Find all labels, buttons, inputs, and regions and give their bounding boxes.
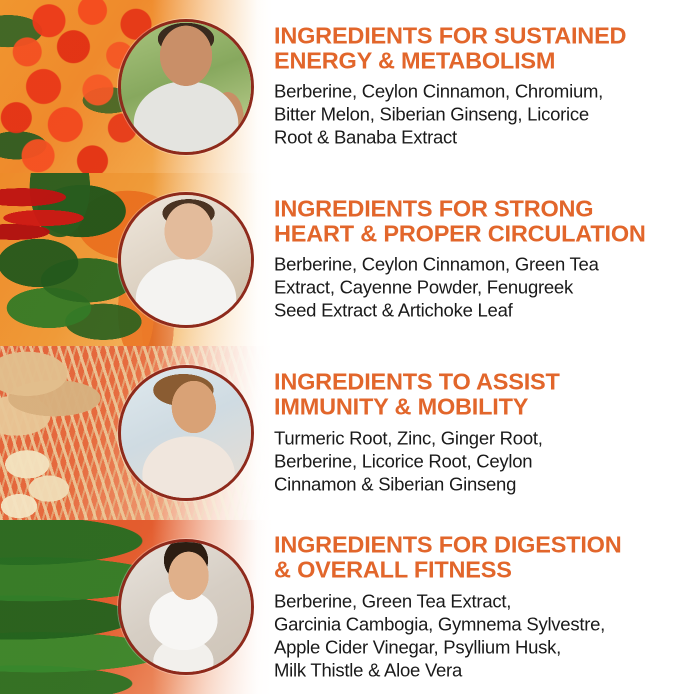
ingredients-benefits-infographic: INGREDIENTS FOR SUSTAINED ENERGY & METAB… — [0, 0, 679, 694]
panel-3-ingredients: Turmeric Root, Zinc, Ginger Root, Berber… — [274, 427, 671, 496]
panel-immunity-mobility: INGREDIENTS TO ASSIST IMMUNITY & MOBILIT… — [0, 346, 679, 520]
male-runner-portrait — [121, 22, 251, 152]
panel-4-portrait-frame — [118, 539, 254, 675]
panel-2-text: INGREDIENTS FOR STRONG HEART & PROPER CI… — [274, 196, 671, 323]
woman-hands-on-heart-portrait — [121, 195, 251, 325]
panel-4-ingredients: Berberine, Green Tea Extract, Garcinia C… — [274, 590, 671, 682]
woman-running-portrait — [121, 368, 251, 498]
panel-1-ingredients: Berberine, Ceylon Cinnamon, Chromium, Bi… — [274, 81, 671, 150]
panel-2-heading: INGREDIENTS FOR STRONG HEART & PROPER CI… — [274, 196, 671, 247]
panel-digestion-overall-fitness: INGREDIENTS FOR DIGESTION & OVERALL FITN… — [0, 520, 679, 694]
panel-sustained-energy-metabolism: INGREDIENTS FOR SUSTAINED ENERGY & METAB… — [0, 0, 679, 173]
panel-3-text: INGREDIENTS TO ASSIST IMMUNITY & MOBILIT… — [274, 370, 671, 497]
panel-4-text: INGREDIENTS FOR DIGESTION & OVERALL FITN… — [274, 532, 671, 682]
panel-1-portrait-frame — [118, 19, 254, 155]
panel-4-heading: INGREDIENTS FOR DIGESTION & OVERALL FITN… — [274, 532, 671, 583]
panel-2-ingredients: Berberine, Ceylon Cinnamon, Green Tea Ex… — [274, 254, 671, 323]
panel-1-heading: INGREDIENTS FOR SUSTAINED ENERGY & METAB… — [274, 23, 671, 74]
panel-2-portrait-frame — [118, 192, 254, 328]
woman-measuring-waist-portrait — [121, 542, 251, 672]
panel-1-text: INGREDIENTS FOR SUSTAINED ENERGY & METAB… — [274, 23, 671, 150]
panel-3-heading: INGREDIENTS TO ASSIST IMMUNITY & MOBILIT… — [274, 370, 671, 421]
panel-3-portrait-frame — [118, 365, 254, 501]
panel-strong-heart-circulation: INGREDIENTS FOR STRONG HEART & PROPER CI… — [0, 173, 679, 346]
